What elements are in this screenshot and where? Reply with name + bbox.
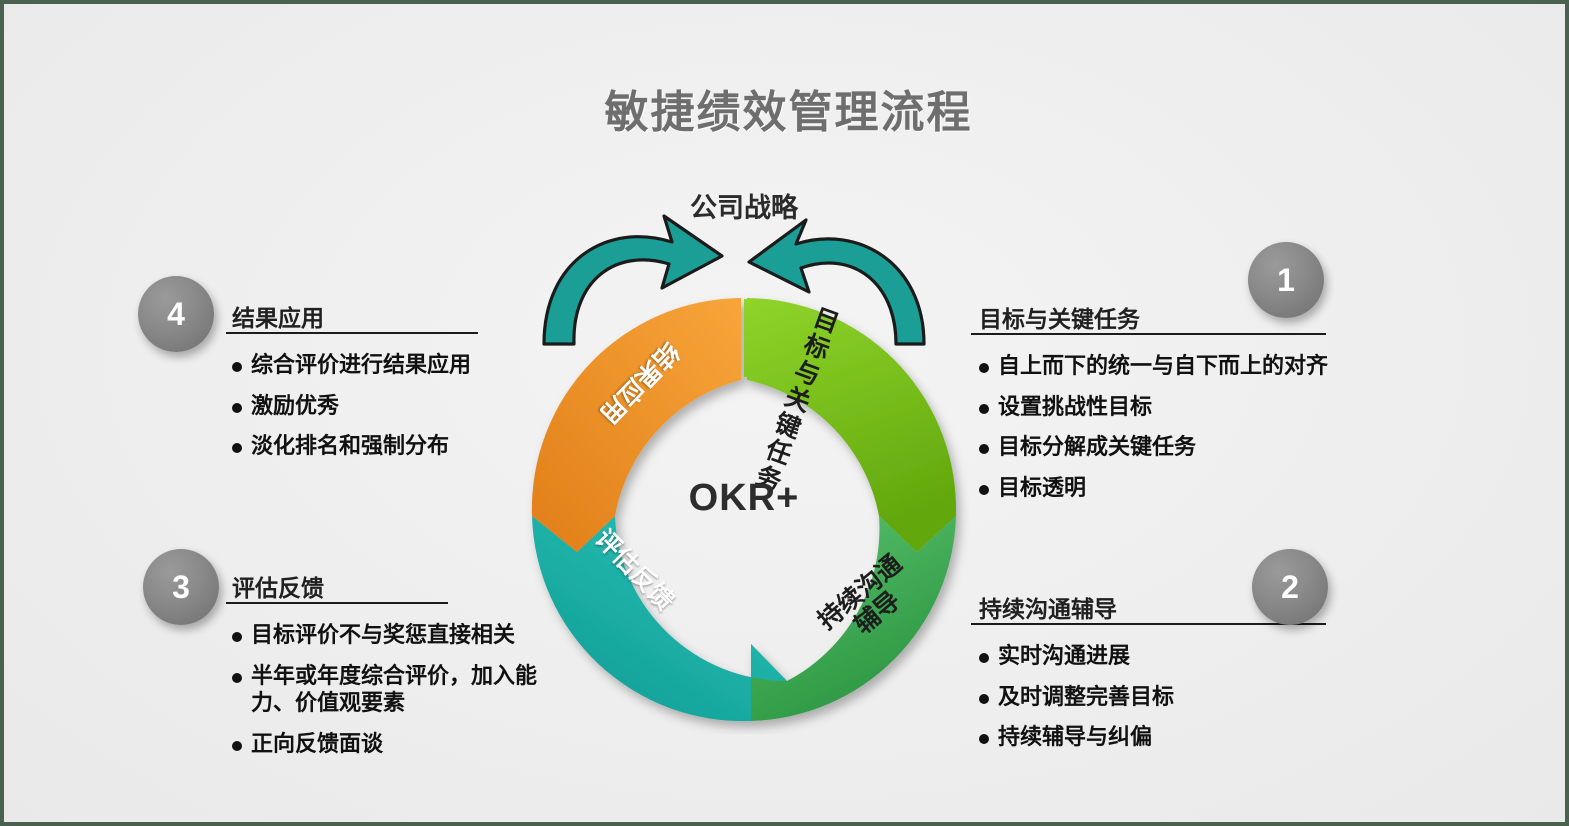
bullet-list: 目标评价不与奖惩直接相关 半年或年度综合评价，加入能力、价值观要素 正向反馈面谈 [232, 621, 542, 758]
page-title: 敏捷绩效管理流程 [4, 76, 1569, 140]
heading-rule [971, 623, 1326, 625]
list-item: 及时调整完善目标 [979, 683, 1379, 711]
list-item: 正向反馈面谈 [232, 730, 542, 758]
list-item: 实时沟通进展 [979, 642, 1379, 670]
bullet-list: 实时沟通进展 及时调整完善目标 持续辅导与纠偏 [979, 642, 1379, 751]
list-item: 目标透明 [979, 474, 1399, 502]
list-item: 自上而下的统一与自下而上的对齐 [979, 352, 1399, 380]
segment-communication[interactable] [751, 516, 956, 721]
list-item: 目标分解成关键任务 [979, 433, 1399, 461]
section-goal: 目标与关键任务 自上而下的统一与自下而上的对齐 设置挑战性目标 目标分解成关键任… [979, 300, 1399, 502]
list-item: 激励优秀 [232, 392, 532, 420]
cycle-diagram: 公司战略 [509, 174, 979, 754]
core-label: OKR+ [644, 477, 844, 520]
heading-rule [226, 332, 478, 334]
step-badge-2[interactable]: 2 [1252, 549, 1328, 625]
strategy-label: 公司战略 [614, 186, 874, 225]
list-item: 目标评价不与奖惩直接相关 [232, 621, 542, 649]
list-item: 持续辅导与纠偏 [979, 723, 1379, 751]
heading-rule [971, 333, 1326, 335]
bullet-list: 自上而下的统一与自下而上的对齐 设置挑战性目标 目标分解成关键任务 目标透明 [979, 352, 1399, 502]
heading-rule [226, 602, 448, 604]
section-communication: 持续沟通辅导 实时沟通进展 及时调整完善目标 持续辅导与纠偏 [979, 590, 1379, 751]
step-badge-3[interactable]: 3 [143, 549, 219, 625]
curved-arrow-right-icon [749, 220, 924, 344]
bullet-list: 综合评价进行结果应用 激励优秀 淡化排名和强制分布 [232, 351, 532, 460]
segment-evaluation[interactable] [532, 516, 787, 721]
section-result: 结果应用 综合评价进行结果应用 激励优秀 淡化排名和强制分布 [232, 299, 532, 460]
step-badge-1[interactable]: 1 [1248, 242, 1324, 318]
list-item: 综合评价进行结果应用 [232, 351, 532, 379]
list-item: 淡化排名和强制分布 [232, 432, 532, 460]
step-badge-4[interactable]: 4 [138, 276, 214, 352]
section-evaluation: 评估反馈 目标评价不与奖惩直接相关 半年或年度综合评价，加入能力、价值观要素 正… [232, 569, 542, 758]
list-item: 设置挑战性目标 [979, 393, 1399, 421]
list-item: 半年或年度综合评价，加入能力、价值观要素 [232, 662, 542, 717]
curved-arrow-left-icon [544, 216, 722, 344]
slide-canvas: 敏捷绩效管理流程 [0, 0, 1569, 826]
